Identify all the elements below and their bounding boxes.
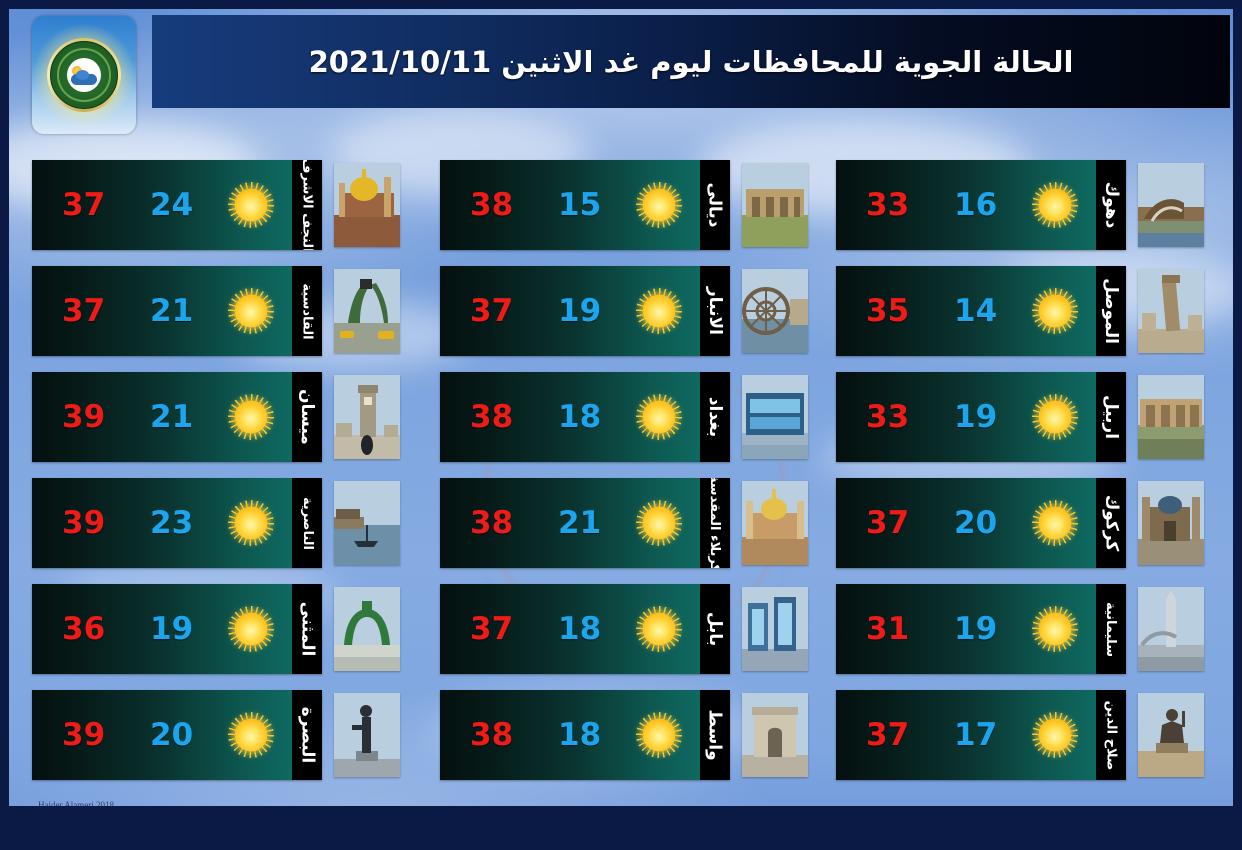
governorate-name-strip: ميسان [292, 372, 322, 462]
max-temperature: 38 [470, 399, 513, 435]
governorate-photo-salahaddin-statue [1138, 693, 1204, 777]
forecast-card[interactable]: 3818واسط [440, 690, 730, 780]
sun-icon [1032, 394, 1078, 440]
governorate-photo-erbil-citadel [1138, 375, 1204, 459]
governorate-name: النجف الاشرف [300, 160, 315, 250]
min-temperature: 23 [150, 505, 193, 541]
governorate-name-strip: سليمانية [1096, 584, 1126, 674]
forecast-card[interactable]: 3514الموصل [836, 266, 1126, 356]
sun-core-icon [235, 613, 268, 646]
governorate-name: الموصل [1101, 278, 1121, 344]
max-temperature: 37 [470, 293, 513, 329]
max-temperature: 33 [866, 187, 909, 223]
governorate-name: كربلاء المقدسة [708, 478, 723, 568]
frame-right-border [1233, 0, 1242, 850]
sun-core-icon [1039, 295, 1072, 328]
forecast-card[interactable]: 3721القادسية [32, 266, 322, 356]
forecast-row: 3720كركوك [836, 478, 1232, 570]
forecast-card[interactable]: 3319اربيل [836, 372, 1126, 462]
governorate-photo-wasit-arch [742, 693, 808, 777]
min-temperature: 19 [954, 611, 997, 647]
forecast-row: 3724النجف الاشرف [32, 160, 428, 252]
sun-core-icon [235, 401, 268, 434]
sun-icon [636, 394, 682, 440]
governorate-photo-samawah-arch [334, 587, 400, 671]
max-temperature: 36 [62, 611, 105, 647]
forecast-row: 3721القادسية [32, 266, 428, 358]
forecast-row: 3619المثنى [32, 584, 428, 676]
governorate-name: القادسية [300, 283, 315, 339]
governorate-name-strip: البصرة [292, 690, 322, 780]
frame-top-border [0, 0, 1242, 9]
governorate-name-strip: ديالى [700, 160, 730, 250]
forecast-card[interactable]: 3818بغداد [440, 372, 730, 462]
forecast-row: 3921ميسان [32, 372, 428, 464]
sun-core-icon [643, 613, 676, 646]
sun-core-icon [1039, 401, 1072, 434]
sun-icon [228, 500, 274, 546]
header-bar: الحالة الجوية للمحافظات ليوم غد الاثنين … [152, 15, 1230, 108]
governorate-name: بابل [705, 612, 725, 646]
forecast-row: 3718بابل [440, 584, 836, 676]
sun-icon [636, 712, 682, 758]
logo-cloud-highlight-icon [76, 70, 89, 80]
logo-emblem [67, 58, 101, 92]
max-temperature: 37 [866, 717, 909, 753]
forecast-grid: 3724النجف الاشرف3721القادسية3921ميسان392… [0, 160, 1242, 810]
sun-core-icon [235, 719, 268, 752]
governorate-photo-basra-statue [334, 693, 400, 777]
min-temperature: 21 [558, 505, 601, 541]
sun-core-icon [643, 295, 676, 328]
forecast-card[interactable]: 3719الانبار [440, 266, 730, 356]
max-temperature: 35 [866, 293, 909, 329]
governorate-name: ديالى [705, 182, 725, 227]
governorate-name-strip: القادسية [292, 266, 322, 356]
sun-core-icon [235, 189, 268, 222]
sun-icon [636, 606, 682, 652]
max-temperature: 37 [866, 505, 909, 541]
min-temperature: 19 [954, 399, 997, 435]
forecast-row: 3815ديالى [440, 160, 836, 252]
forecast-row: 3920البصرة [32, 690, 428, 782]
forecast-card[interactable]: 3815ديالى [440, 160, 730, 250]
min-temperature: 20 [954, 505, 997, 541]
min-temperature: 21 [150, 293, 193, 329]
sun-icon [228, 182, 274, 228]
forecast-row: 3514الموصل [836, 266, 1232, 358]
sun-core-icon [1039, 507, 1072, 540]
governorate-name: بغداد [705, 397, 725, 437]
forecast-row: 3319اربيل [836, 372, 1232, 464]
forecast-row: 3818واسط [440, 690, 836, 782]
governorate-name: سليمانية [1104, 601, 1119, 656]
max-temperature: 39 [62, 717, 105, 753]
sun-core-icon [1039, 719, 1072, 752]
governorate-name: واسط [705, 709, 725, 760]
forecast-card[interactable]: 3923الناصرية [32, 478, 322, 568]
governorate-photo-sulaymaniyah-monument [1138, 587, 1204, 671]
governorate-name-strip: النجف الاشرف [292, 160, 322, 250]
forecast-column-left: 3724النجف الاشرف3721القادسية3921ميسان392… [32, 160, 428, 810]
min-temperature: 14 [954, 293, 997, 329]
governorate-photo-baghdad-building [742, 375, 808, 459]
forecast-card[interactable]: 3119سليمانية [836, 584, 1126, 674]
min-temperature: 15 [558, 187, 601, 223]
governorate-name: اربيل [1101, 395, 1121, 439]
sun-core-icon [235, 295, 268, 328]
min-temperature: 21 [150, 399, 193, 435]
governorate-name: كركوك [1101, 495, 1121, 552]
sun-icon [228, 394, 274, 440]
sun-icon [636, 182, 682, 228]
sun-icon [1032, 182, 1078, 228]
governorate-photo-anbar-waterwheel [742, 269, 808, 353]
governorate-name-strip: كربلاء المقدسة [700, 478, 730, 568]
sun-icon [228, 288, 274, 334]
governorate-photo-karbala-shrine [742, 481, 808, 565]
governorate-name: البصرة [297, 707, 317, 764]
forecast-row: 3821كربلاء المقدسة [440, 478, 836, 570]
governorate-name-strip: صلاح الدين [1096, 690, 1126, 780]
governorate-photo-kirkuk-mosque [1138, 481, 1204, 565]
min-temperature: 18 [558, 717, 601, 753]
frame-left-border [0, 0, 9, 850]
sun-icon [636, 500, 682, 546]
min-temperature: 19 [558, 293, 601, 329]
governorate-name-strip: دهوك [1096, 160, 1126, 250]
sun-icon [228, 606, 274, 652]
forecast-card[interactable]: 3821كربلاء المقدسة [440, 478, 730, 568]
max-temperature: 37 [62, 187, 105, 223]
min-temperature: 20 [150, 717, 193, 753]
forecast-row: 3717صلاح الدين [836, 690, 1232, 782]
min-temperature: 16 [954, 187, 997, 223]
max-temperature: 37 [470, 611, 513, 647]
max-temperature: 38 [470, 505, 513, 541]
governorate-photo-najaf-shrine [334, 163, 400, 247]
sun-core-icon [235, 507, 268, 540]
forecast-column-right: 3316دهوك3514الموصل3319اربيل3720كركوك3119… [836, 160, 1232, 810]
iraqi-meteorological-organization-logo [32, 16, 136, 134]
governorate-photo-nasiriyah-marshes [334, 481, 400, 565]
sun-icon [228, 712, 274, 758]
governorate-name-strip: المثنى [292, 584, 322, 674]
sun-icon [1032, 606, 1078, 652]
governorate-name: المثنى [297, 602, 317, 657]
governorate-name: دهوك [1101, 182, 1121, 229]
governorate-name-strip: اربيل [1096, 372, 1126, 462]
forecast-card[interactable]: 3920البصرة [32, 690, 322, 780]
governorate-photo-mosul-minaret [1138, 269, 1204, 353]
governorate-name-strip: بغداد [700, 372, 730, 462]
forecast-card[interactable]: 3619المثنى [32, 584, 322, 674]
sun-core-icon [643, 401, 676, 434]
governorate-photo-duhok-bridge [1138, 163, 1204, 247]
governorate-name: الانبار [705, 287, 725, 335]
forecast-column-middle: 3815ديالى3719الانبار3818بغداد3821كربلاء … [440, 160, 836, 810]
forecast-row: 3316دهوك [836, 160, 1232, 252]
governorate-name-strip: الناصرية [292, 478, 322, 568]
governorate-photo-babil-towers [742, 587, 808, 671]
max-temperature: 31 [866, 611, 909, 647]
forecast-card[interactable]: 3724النجف الاشرف [32, 160, 322, 250]
max-temperature: 38 [470, 717, 513, 753]
forecast-card[interactable]: 3720كركوك [836, 478, 1126, 568]
sun-core-icon [643, 189, 676, 222]
max-temperature: 39 [62, 399, 105, 435]
governorate-photo-diwaniyah-monument [334, 269, 400, 353]
max-temperature: 38 [470, 187, 513, 223]
weather-poster: الحالة الجوية للمحافظات ليوم غد الاثنين … [0, 0, 1242, 850]
sun-icon [1032, 500, 1078, 546]
page-title: الحالة الجوية للمحافظات ليوم غد الاثنين … [309, 45, 1074, 79]
forecast-card[interactable]: 3921ميسان [32, 372, 322, 462]
forecast-row: 3923الناصرية [32, 478, 428, 570]
min-temperature: 24 [150, 187, 193, 223]
forecast-card[interactable]: 3718بابل [440, 584, 730, 674]
governorate-name: ميسان [297, 389, 317, 445]
governorate-photo-diyala-ruins [742, 163, 808, 247]
sun-core-icon [643, 719, 676, 752]
governorate-name-strip: الانبار [700, 266, 730, 356]
governorate-name: الناصرية [300, 497, 315, 550]
governorate-photo-amarah-clocktower [334, 375, 400, 459]
sun-icon [1032, 288, 1078, 334]
min-temperature: 19 [150, 611, 193, 647]
min-temperature: 18 [558, 399, 601, 435]
forecast-card[interactable]: 3316دهوك [836, 160, 1126, 250]
max-temperature: 33 [866, 399, 909, 435]
min-temperature: 17 [954, 717, 997, 753]
sun-icon [1032, 712, 1078, 758]
max-temperature: 37 [62, 293, 105, 329]
sun-core-icon [1039, 189, 1072, 222]
sun-core-icon [643, 507, 676, 540]
frame-bottom-border [0, 806, 1242, 850]
sun-icon [636, 288, 682, 334]
forecast-row: 3119سليمانية [836, 584, 1232, 676]
governorate-name-strip: بابل [700, 584, 730, 674]
governorate-name-strip: واسط [700, 690, 730, 780]
governorate-name-strip: الموصل [1096, 266, 1126, 356]
governorate-name-strip: كركوك [1096, 478, 1126, 568]
sun-core-icon [1039, 613, 1072, 646]
max-temperature: 39 [62, 505, 105, 541]
governorate-name: صلاح الدين [1104, 700, 1119, 770]
min-temperature: 18 [558, 611, 601, 647]
forecast-row: 3818بغداد [440, 372, 836, 464]
forecast-row: 3719الانبار [440, 266, 836, 358]
forecast-card[interactable]: 3717صلاح الدين [836, 690, 1126, 780]
